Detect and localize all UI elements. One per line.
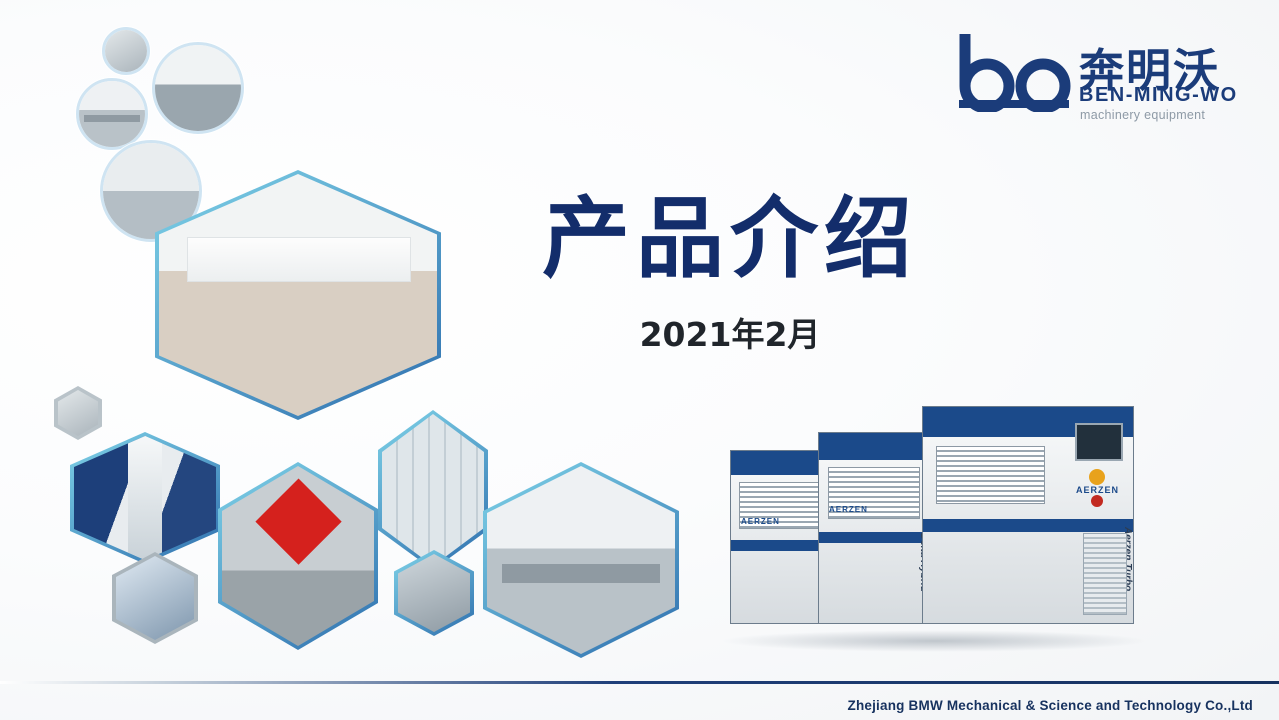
machine-unit-delta-blower: AERZEN Delta Blower: [730, 450, 828, 624]
photo-workstation: [76, 78, 148, 150]
machine-side-vent-icon: [1083, 533, 1127, 615]
photo-panel-small: [394, 550, 474, 636]
footer-divider: [0, 681, 1279, 684]
machine-unit-aerzen-turbo: AERZEN Aerzen Turbo: [922, 406, 1134, 624]
machine-illustration: AERZEN Delta Blower AERZEN Delta Hybrid …: [700, 392, 1170, 642]
machine-unit-label: Delta Hybrid: [859, 524, 929, 600]
machine-stop-button-icon: [1091, 495, 1103, 507]
machine-knob-icon: [1089, 469, 1105, 485]
footer-company-name: Zhejiang BMW Mechanical & Science and Te…: [848, 698, 1254, 713]
photo-room-small: [112, 552, 198, 644]
photo-open-office: [483, 462, 679, 658]
photo-entrance-door: [218, 462, 378, 650]
photo-meeting-room: [152, 42, 244, 134]
photo-corridor: [70, 432, 220, 564]
logo-tagline: machinery equipment: [1080, 108, 1205, 122]
machine-unit-delta-hybrid: AERZEN Delta Hybrid: [818, 432, 930, 624]
machine-brand-label: AERZEN: [1076, 485, 1119, 495]
photo-elevator-lobby: [102, 27, 150, 75]
slide-title: 产品介绍: [520, 168, 940, 295]
photo-glass-partition: [378, 410, 488, 570]
machine-brand-label: AERZEN: [741, 517, 780, 526]
bo-logo-icon: [951, 26, 1081, 112]
slide-subtitle: 2021年2月: [520, 308, 940, 356]
machine-control-panel-icon: [1075, 423, 1123, 461]
machine-brand-label: AERZEN: [829, 505, 868, 514]
company-logo: 奔明沃 BEN-MING-WO machinery equipment: [951, 22, 1241, 132]
photo-door-small: [54, 386, 102, 440]
slide-canvas: 奔明沃 BEN-MING-WO machinery equipment 产品介绍…: [0, 0, 1279, 720]
logo-english-name: BEN-MING-WO: [1079, 84, 1238, 107]
